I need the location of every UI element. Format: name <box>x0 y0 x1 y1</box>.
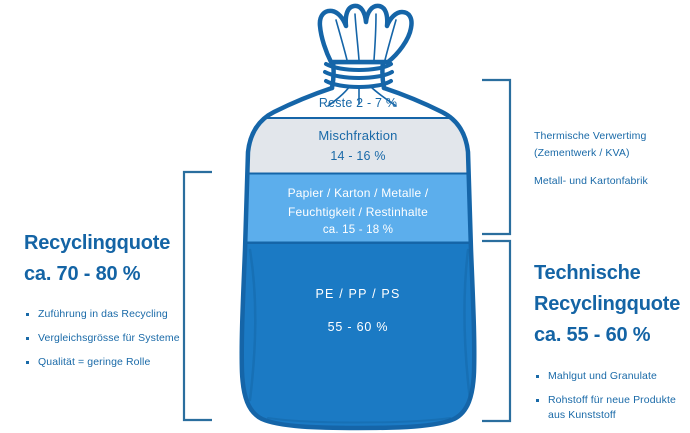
panel-top-right-note-1: Thermische Verwertimg (Zementwerk / KVA) <box>534 128 684 162</box>
list-item-sub: aus Kunststoff <box>548 409 690 422</box>
list-item-main: Mahlgut und Granulate <box>548 370 657 382</box>
bag-body <box>228 80 488 432</box>
band-mischfraktion <box>228 118 488 173</box>
band-papier-karton <box>228 174 488 243</box>
panel-left-heading: Recyclingquote ca. 70 - 80 % <box>24 228 194 290</box>
panel-bottom-right-bullets: Mahlgut und Granulate Rohstoff für neue … <box>534 370 690 422</box>
list-item: Vergleichsgrösse für Systeme <box>24 332 194 345</box>
list-item: Qualität = geringe Rolle <box>24 356 194 369</box>
panel-bottom-right-heading-line2: Recyclingquote <box>534 289 690 320</box>
list-item: Zuführung in das Recycling <box>24 308 194 321</box>
list-item-main: Rohstoff für neue Produkte <box>548 394 676 406</box>
panel-top-right-note-2: Metall- und Kartonfabrik <box>534 173 684 190</box>
panel-left-heading-line1: Recyclingquote <box>24 228 194 259</box>
panel-bottom-right-heading-line3: ca. 55 - 60 % <box>534 320 690 351</box>
panel-bottom-right-heading-line1: Technische <box>534 258 690 289</box>
bracket-thermische-verwertung <box>482 78 512 236</box>
panel-thermische-verwertung: Thermische Verwertimg (Zementwerk / KVA)… <box>534 128 684 190</box>
panel-left-bullets: Zuführung in das Recycling Vergleichsgrö… <box>24 308 194 369</box>
panel-recyclingquote: Recyclingquote ca. 70 - 80 % Zuführung i… <box>24 228 194 380</box>
bag-ruffle <box>320 6 412 62</box>
panel-bottom-right-heading: Technische Recyclingquote ca. 55 - 60 % <box>534 258 690 351</box>
recycling-bag-diagram: Reste 2 - 7 % Mischfraktion 14 - 16 % Pa… <box>228 0 488 432</box>
note-line-3: Metall- und Kartonfabrik <box>534 173 684 190</box>
note-line-1: Thermische Verwertimg <box>534 128 684 145</box>
panel-left-heading-line2: ca. 70 - 80 % <box>24 259 194 290</box>
note-line-2: (Zementwerk / KVA) <box>534 145 684 162</box>
band-kunststoff <box>228 243 488 432</box>
bracket-technische-recyclingquote <box>482 239 512 423</box>
panel-technische-recyclingquote: Technische Recyclingquote ca. 55 - 60 % … <box>534 258 690 433</box>
list-item: Mahlgut und Granulate <box>534 370 690 383</box>
list-item: Rohstoff für neue Produkte aus Kunststof… <box>534 394 690 422</box>
